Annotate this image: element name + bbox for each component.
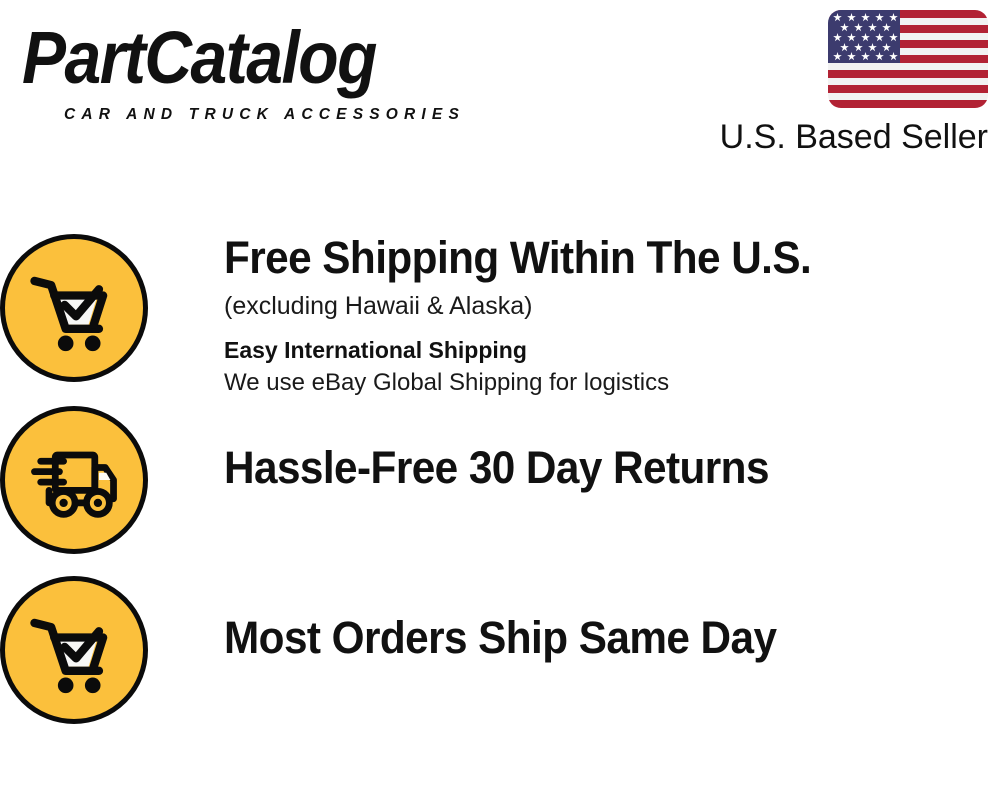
feature-list: Free Shipping Within The U.S. (excluding… — [0, 222, 1000, 747]
feature-subnote: We use eBay Global Shipping for logistic… — [224, 367, 1000, 398]
feature-icon-wrapper — [0, 406, 148, 554]
feature-row: Most Orders Ship Same Day — [0, 572, 1000, 747]
feature-headline: Hassle-Free 30 Day Returns — [224, 442, 953, 494]
feature-text-block: Free Shipping Within The U.S. (excluding… — [148, 222, 1000, 398]
feature-row: Free Shipping Within The U.S. (excluding… — [0, 222, 1000, 400]
shopping-cart-check-icon — [0, 234, 148, 382]
us-flag-icon — [828, 10, 988, 108]
feature-icon-wrapper — [0, 234, 148, 382]
page-header: PartCatalog CAR AND TRUCK ACCESSORIES — [0, 0, 1000, 180]
feature-headline: Most Orders Ship Same Day — [224, 612, 953, 664]
feature-subline: (excluding Hawaii & Alaska) — [224, 291, 1000, 322]
feature-icon-wrapper — [0, 576, 148, 724]
feature-text-block: Hassle-Free 30 Day Returns — [148, 400, 1000, 494]
us-based-seller-badge: U.S. Based Seller — [688, 10, 988, 157]
brand-tagline: CAR AND TRUCK ACCESSORIES — [22, 106, 492, 124]
shopping-cart-check-icon — [0, 576, 148, 724]
brand-logo: PartCatalog CAR AND TRUCK ACCESSORIES — [22, 16, 492, 124]
feature-subhead: Easy International Shipping — [224, 336, 1000, 365]
feature-row: Hassle-Free 30 Day Returns — [0, 400, 1000, 572]
feature-text-block: Most Orders Ship Same Day — [148, 572, 1000, 664]
brand-wordmark: PartCatalog — [22, 16, 492, 99]
delivery-truck-icon — [0, 406, 148, 554]
feature-headline: Free Shipping Within The U.S. — [224, 232, 953, 284]
us-based-seller-label: U.S. Based Seller — [688, 117, 988, 157]
